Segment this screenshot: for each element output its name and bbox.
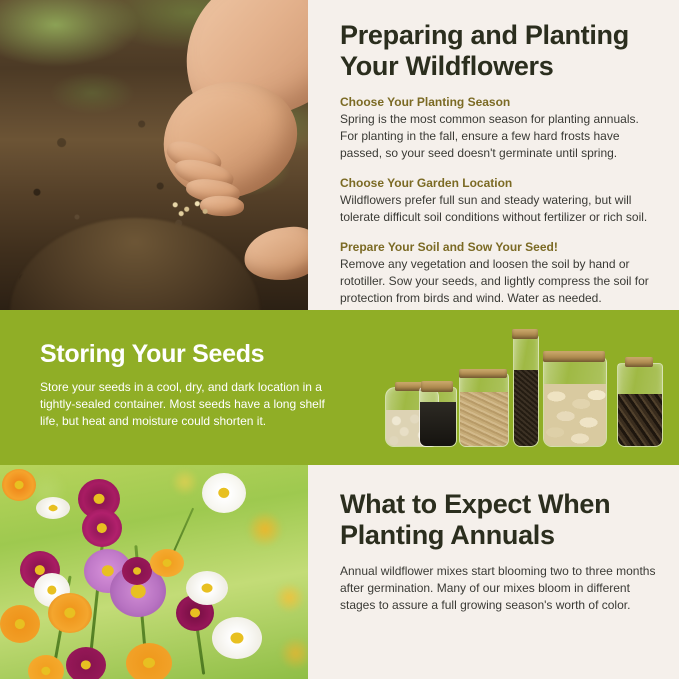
- seed-jar: [513, 335, 539, 447]
- subheading-prepare-soil: Prepare Your Soil and Sow Your Seed!: [340, 239, 657, 255]
- orange-cosmos-flower: [48, 593, 92, 633]
- seeds-in-hand: [166, 196, 212, 218]
- cosmos-wildflower-bouquet-photo: [0, 465, 308, 679]
- orange-cosmos-flower: [126, 643, 172, 679]
- cork-stopper: [459, 369, 507, 378]
- page-title-annuals: What to Expect When Planting Annuals: [340, 489, 657, 551]
- cork-stopper: [421, 381, 453, 392]
- seed-fill: [460, 392, 508, 446]
- seed-jar: [617, 363, 663, 447]
- body-garden-location: Wildflowers prefer full sun and steady w…: [340, 192, 657, 226]
- white-cosmos-flower: [212, 617, 262, 659]
- page-title-preparing: Preparing and Planting Your Wildflowers: [340, 20, 657, 82]
- seed-fill: [618, 394, 662, 446]
- title-line-2: Your Wildflowers: [340, 51, 553, 81]
- title-line-1: Preparing and Planting: [340, 20, 629, 50]
- orange-cosmos-flower: [150, 549, 184, 577]
- hand-sowing-seeds-in-soil-photo: [0, 0, 308, 310]
- cork-stopper: [512, 329, 538, 339]
- seed-fill: [544, 384, 606, 446]
- magenta-cosmos-flower: [82, 509, 122, 547]
- magenta-cosmos-flower: [122, 557, 152, 585]
- wildflower-planting-infographic: Preparing and Planting Your Wildflowers …: [0, 0, 679, 679]
- seed-fill: [420, 402, 456, 446]
- preparing-section: Preparing and Planting Your Wildflowers …: [0, 0, 679, 310]
- annuals-section: What to Expect When Planting Annuals Ann…: [0, 465, 679, 679]
- white-cosmos-flower: [202, 473, 246, 513]
- page-title-storing: Storing Your Seeds: [40, 340, 330, 369]
- subheading-planting-season: Choose Your Planting Season: [340, 94, 657, 110]
- seed-jar: [459, 373, 509, 447]
- annuals-text-panel: What to Expect When Planting Annuals Ann…: [308, 465, 679, 679]
- subheading-garden-location: Choose Your Garden Location: [340, 175, 657, 191]
- preparing-text-panel: Preparing and Planting Your Wildflowers …: [308, 0, 679, 310]
- cork-stopper: [543, 351, 605, 362]
- body-planting-season: Spring is the most common season for pla…: [340, 111, 657, 162]
- orange-cosmos-flower: [28, 655, 64, 679]
- seed-fill: [514, 370, 538, 446]
- title-line-1: What to Expect When: [340, 489, 610, 519]
- white-cosmos-flower: [36, 497, 70, 519]
- orange-cosmos-flower: [2, 469, 36, 501]
- body-prepare-soil: Remove any vegetation and loosen the soi…: [340, 256, 657, 307]
- orange-cosmos-flower: [0, 605, 40, 643]
- title-line-2: Planting Annuals: [340, 520, 555, 550]
- body-storing-seeds: Store your seeds in a cool, dry, and dar…: [40, 379, 330, 430]
- hand-graphic: [116, 0, 308, 224]
- cork-stopper: [625, 357, 653, 367]
- glass-jars-of-seeds-photo: [377, 321, 667, 447]
- body-annuals: Annual wildflower mixes start blooming t…: [340, 563, 657, 614]
- seed-jar: [543, 357, 607, 447]
- seed-jar: [419, 387, 457, 447]
- magenta-cosmos-flower: [66, 647, 106, 679]
- storing-seeds-section: Storing Your Seeds Store your seeds in a…: [0, 310, 679, 465]
- white-cosmos-flower: [186, 571, 228, 605]
- storing-text-panel: Storing Your Seeds Store your seeds in a…: [40, 340, 330, 430]
